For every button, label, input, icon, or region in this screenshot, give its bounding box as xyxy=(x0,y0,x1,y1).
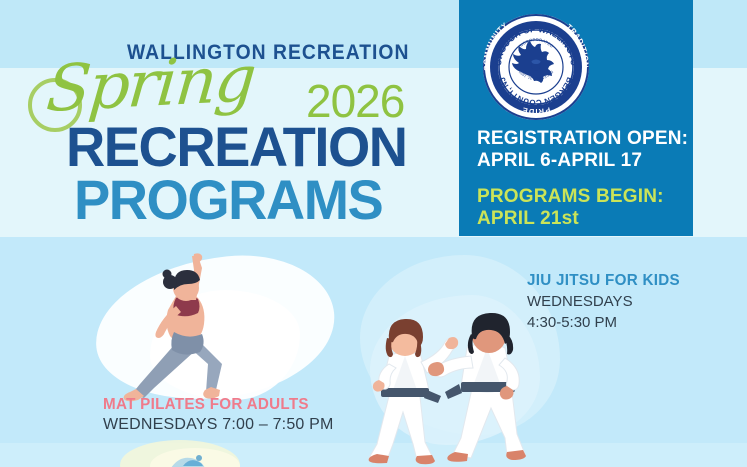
program-title: JIU JITSU FOR KIDS xyxy=(527,272,680,290)
registration-panel: BOROUGH OF WALLINGTON BERGEN COUNTY, NJ … xyxy=(459,0,693,236)
page-title-line2: PROGRAMS xyxy=(74,172,382,228)
jiu-jitsu-kids-illustration xyxy=(355,312,545,467)
programs-begin-label: PROGRAMS BEGIN: xyxy=(477,186,687,208)
program-schedule: WEDNESDAYS 7:00 – 7:50 PM xyxy=(103,416,334,434)
woman-yoga-illustration xyxy=(110,252,290,412)
program-day: WEDNESDAYS xyxy=(527,292,688,311)
registration-open-dates: APRIL 6-APRIL 17 xyxy=(477,150,687,172)
footer-partial-figure-illustration xyxy=(165,446,225,467)
registration-spacer xyxy=(477,172,687,186)
program-caption-mat-pilates: MAT PILATES FOR ADULTSWEDNESDAYS 7:00 – … xyxy=(103,396,334,434)
registration-panel-inner: BOROUGH OF WALLINGTON BERGEN COUNTY, NJ … xyxy=(459,0,693,236)
program-time: 4:30-5:30 PM xyxy=(527,313,688,332)
borough-seal-icon: BOROUGH OF WALLINGTON BERGEN COUNTY, NJ … xyxy=(481,12,591,122)
recreation-flyer: WALLINGTON RECREATION Spring 2026 RECREA… xyxy=(0,0,747,467)
program-caption-jiu-jitsu: JIU JITSU FOR KIDSWEDNESDAYS4:30-5:30 PM xyxy=(527,272,688,332)
page-title-line1: RECREATION xyxy=(66,119,407,175)
yoga-figure xyxy=(124,253,222,401)
programs-begin-date: APRIL 21st xyxy=(477,208,687,230)
jiu-jitsu-child-left xyxy=(369,319,458,464)
registration-open-label: REGISTRATION OPEN: xyxy=(477,128,687,150)
registration-details: REGISTRATION OPEN: APRIL 6-APRIL 17 PROG… xyxy=(477,128,687,230)
program-title: MAT PILATES FOR ADULTS xyxy=(103,396,322,414)
jiu-jitsu-child-right xyxy=(428,313,526,462)
season-script-text: Spring xyxy=(44,47,257,122)
